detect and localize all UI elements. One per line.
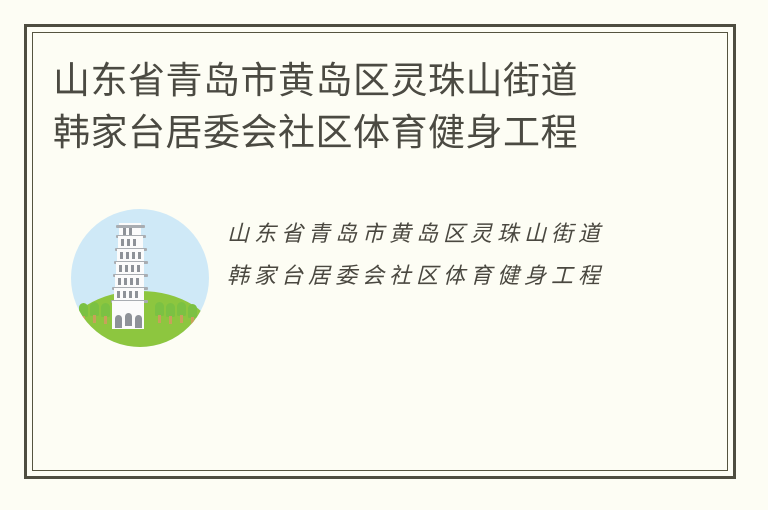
- tree-icon: [79, 303, 88, 317]
- tower-icon: [107, 223, 163, 329]
- calligraphy-text: 山东省青岛市黄岛区灵珠山街道 韩家台居委会社区体育健身工程: [227, 213, 657, 297]
- tree-icon: [188, 304, 197, 318]
- tree-icon: [166, 303, 175, 317]
- title-line-1: 山东省青岛市黄岛区灵珠山街道: [53, 55, 673, 107]
- illustration-leaning-tower: [71, 209, 209, 347]
- calligraphy-line-2: 韩家台居委会社区体育健身工程: [227, 255, 657, 297]
- tree-icon: [177, 302, 186, 316]
- circle-background: [71, 209, 209, 347]
- page-title: 山东省青岛市黄岛区灵珠山街道 韩家台居委会社区体育健身工程: [53, 55, 673, 159]
- title-line-2: 韩家台居委会社区体育健身工程: [53, 107, 673, 159]
- calligraphy-line-1: 山东省青岛市黄岛区灵珠山街道: [227, 213, 657, 255]
- tree-icon: [90, 302, 99, 316]
- poster-card: 山东省青岛市黄岛区灵珠山街道 韩家台居委会社区体育健身工程: [24, 24, 736, 479]
